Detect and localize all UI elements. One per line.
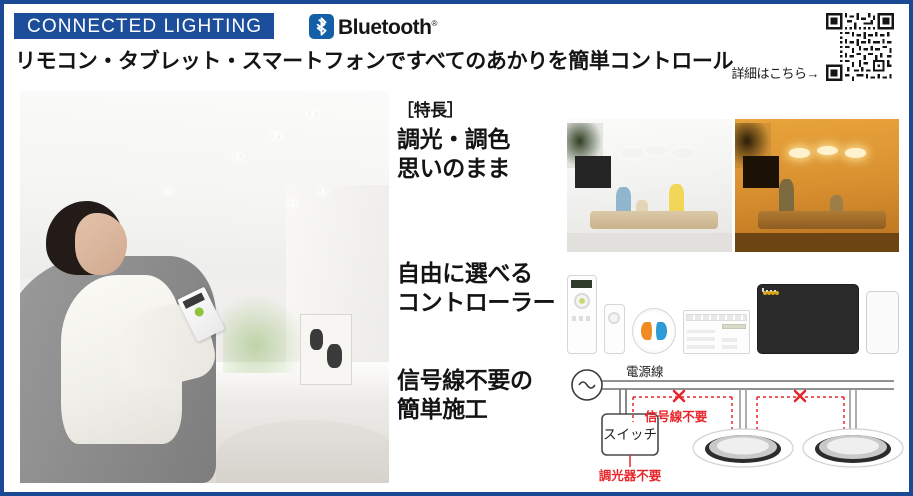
cross-mark-icon	[795, 391, 805, 401]
remote-dial-icon	[574, 293, 590, 309]
scene-photo-daylight	[567, 119, 732, 252]
connected-lighting-banner: CONNECTED LIGHTING	[14, 13, 274, 39]
pendant-light-icon	[789, 148, 810, 157]
feature-line-1: 自由に選べる	[397, 259, 555, 288]
banner-label: CONNECTED LIGHTING	[27, 17, 262, 36]
downlight-fixture-2	[803, 429, 903, 467]
qr-block[interactable]: 詳細はこちら→	[731, 10, 897, 84]
no-dimmer-label: 調光器不要	[599, 468, 662, 483]
panel-keypad-secondary	[722, 335, 738, 349]
large-remote-controller[interactable]	[567, 275, 597, 354]
remote-display	[571, 280, 592, 288]
downlight-fixture-1	[693, 429, 793, 467]
bluetooth-icon	[309, 14, 334, 39]
connected-lighting-poster: CONNECTED LIGHTING Bluetooth® リモコン・タブレット…	[0, 0, 913, 496]
feature-line-1: 信号線不要の	[397, 366, 533, 395]
feature-no-signal-wiring: 信号線不要の 簡単施工	[397, 366, 533, 424]
feature-line-2: 簡単施工	[397, 395, 533, 424]
scene-photo-pair	[567, 119, 899, 252]
feature-controllers: 自由に選べる コントローラー	[397, 259, 555, 317]
remote-buttons	[572, 316, 592, 321]
downlight-icon	[308, 111, 318, 117]
downlight-icon	[164, 189, 171, 193]
bluetooth-logo-lockup: Bluetooth®	[309, 12, 437, 40]
pendant-light-icon	[845, 148, 866, 157]
cross-mark-icon	[674, 391, 684, 401]
controller-lineup	[567, 262, 899, 354]
pendant-light-icon	[817, 146, 838, 155]
header: CONNECTED LIGHTING Bluetooth® リモコン・タブレット…	[4, 4, 909, 90]
switch-label: スイッチ	[603, 427, 657, 442]
wiring-diagram: スイッチ	[564, 360, 904, 484]
dining-table	[758, 211, 886, 230]
cool-color-indicator	[656, 322, 667, 340]
smartphone-controller[interactable]	[866, 291, 899, 354]
panel-display	[722, 324, 745, 330]
scene-photo-warm	[735, 119, 900, 252]
floor	[735, 233, 900, 252]
no-signal-line-label: 信号線不要	[645, 409, 708, 424]
power-line-label: 電源線	[626, 364, 664, 379]
wall-tv	[575, 156, 611, 188]
dining-table	[590, 211, 718, 230]
pendant-light-icon	[646, 146, 667, 155]
qr-code-icon[interactable]	[823, 10, 897, 84]
feature-dimming-and-color: 調光・調色 思いのまま	[397, 125, 510, 183]
small-remote-controller[interactable]	[604, 304, 625, 354]
panel-keypad	[687, 330, 714, 348]
features-section-label: ［特長］	[397, 96, 463, 121]
feature-line-1: 調光・調色	[397, 125, 510, 154]
tablet-controller[interactable]	[757, 284, 859, 354]
qr-caption: 詳細はこちら→	[731, 63, 819, 82]
downlight-icon	[319, 189, 327, 194]
registered-mark: ®	[431, 19, 436, 28]
wall-control-panel[interactable]	[683, 310, 750, 354]
floor	[567, 233, 732, 252]
warm-color-indicator	[641, 322, 652, 340]
hero-photo	[20, 91, 389, 483]
feature-line-2: 思いのまま	[397, 154, 510, 183]
panel-switch-row	[686, 314, 747, 322]
downlight-icon	[234, 154, 242, 159]
picture-frame	[300, 314, 352, 385]
subtitle: リモコン・タブレット・スマートフォンですべてのあかりを簡単コントロール	[15, 45, 733, 75]
wall-tv	[743, 156, 779, 188]
remote-dial-icon	[608, 312, 620, 324]
plant	[223, 279, 304, 373]
person-face	[75, 213, 127, 276]
pendant-light-icon	[672, 148, 693, 157]
round-dial-controller[interactable]	[632, 308, 676, 354]
bluetooth-wordmark: Bluetooth®	[338, 17, 437, 38]
downlight-icon	[289, 201, 296, 205]
feature-line-2: コントローラー	[397, 288, 555, 317]
pendant-light-icon	[621, 148, 642, 157]
